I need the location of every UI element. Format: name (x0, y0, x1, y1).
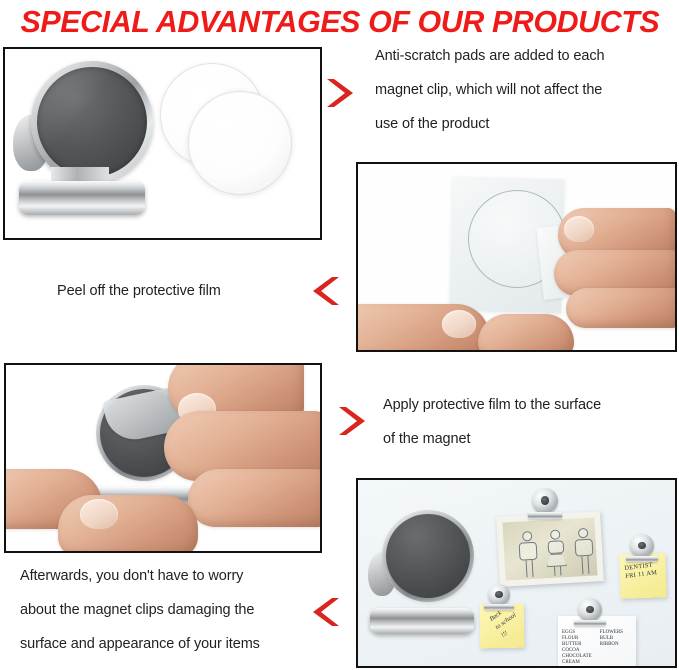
clip-knob (488, 584, 510, 606)
protective-pad-front (188, 91, 292, 195)
peel-film-photo-panel (356, 162, 677, 352)
sticky-note-back-to-school: Back to school !!! (480, 604, 525, 649)
fingernail (564, 216, 594, 242)
finger (188, 469, 322, 527)
fridge-scene-stage: Back to school !!! EGGS FLOUR BUTTER COC… (358, 480, 675, 666)
magnet-face (37, 67, 147, 177)
figure-girl (545, 529, 568, 576)
caption-line: of the magnet (383, 422, 678, 456)
caption-step-2: Peel off the protective film (57, 274, 307, 308)
caption-line: Apply protective film to the surface (383, 388, 678, 422)
fingernail (442, 310, 476, 338)
figure-student (573, 528, 596, 575)
clip-knob (532, 488, 558, 514)
chevron-left-icon-2 (310, 274, 342, 308)
clip-bar (574, 620, 606, 626)
fridge-scene-photo-panel: Back to school !!! EGGS FLOUR BUTTER COC… (356, 478, 677, 668)
caption-line: use of the product (375, 107, 675, 141)
list-item: RIBBON (600, 642, 623, 648)
apply-film-photo-panel (4, 363, 322, 553)
sticky-note-text: Back to school !!! (480, 604, 525, 649)
caption-line: magnet clip, which will not affect the (375, 73, 675, 107)
photo-image (502, 517, 597, 580)
product-photo-panel (3, 47, 322, 240)
product-photo-stage (5, 49, 320, 238)
shopping-list-column-left: EGGS FLOUR BUTTER COCOA CHOCOLATE CREAM … (562, 630, 592, 668)
caption-line: Peel off the protective film (57, 274, 307, 308)
fingernail (80, 499, 118, 529)
list-item: BREAD (562, 667, 592, 668)
chevron-right-icon-3 (336, 404, 368, 438)
peel-film-stage (358, 164, 675, 350)
clip-barrel (19, 181, 145, 215)
chevron-right-icon-1 (324, 76, 356, 110)
clip-knob (630, 534, 654, 558)
shopping-list-column-right: FLOWERS BULB RIBBON (600, 630, 623, 668)
caption-line: about the magnet clips damaging the (20, 593, 320, 627)
framed-photo (496, 511, 604, 587)
finger (478, 314, 574, 352)
finger (58, 495, 198, 553)
clip-barrel (370, 608, 474, 634)
figure-boy (517, 531, 540, 578)
clip-bar (484, 604, 514, 610)
clip-bar (528, 512, 562, 519)
caption-step-1: Anti-scratch pads are added to each magn… (375, 39, 675, 141)
page-title: SPECIAL ADVANTAGES OF OUR PRODUCTS (20, 4, 659, 40)
caption-step-4: Afterwards, you don't have to worry abou… (20, 559, 320, 661)
magnet-face (386, 514, 470, 598)
finger (566, 288, 677, 328)
clip-knob (578, 598, 602, 622)
caption-line: surface and appearance of your items (20, 627, 320, 661)
header-bar: SPECIAL ADVANTAGES OF OUR PRODUCTS (0, 0, 679, 44)
clip-bar (626, 556, 658, 562)
caption-step-3: Apply protective film to the surface of … (383, 388, 678, 456)
apply-film-stage (6, 365, 320, 551)
caption-line: Anti-scratch pads are added to each (375, 39, 675, 73)
caption-line: Afterwards, you don't have to worry (20, 559, 320, 593)
